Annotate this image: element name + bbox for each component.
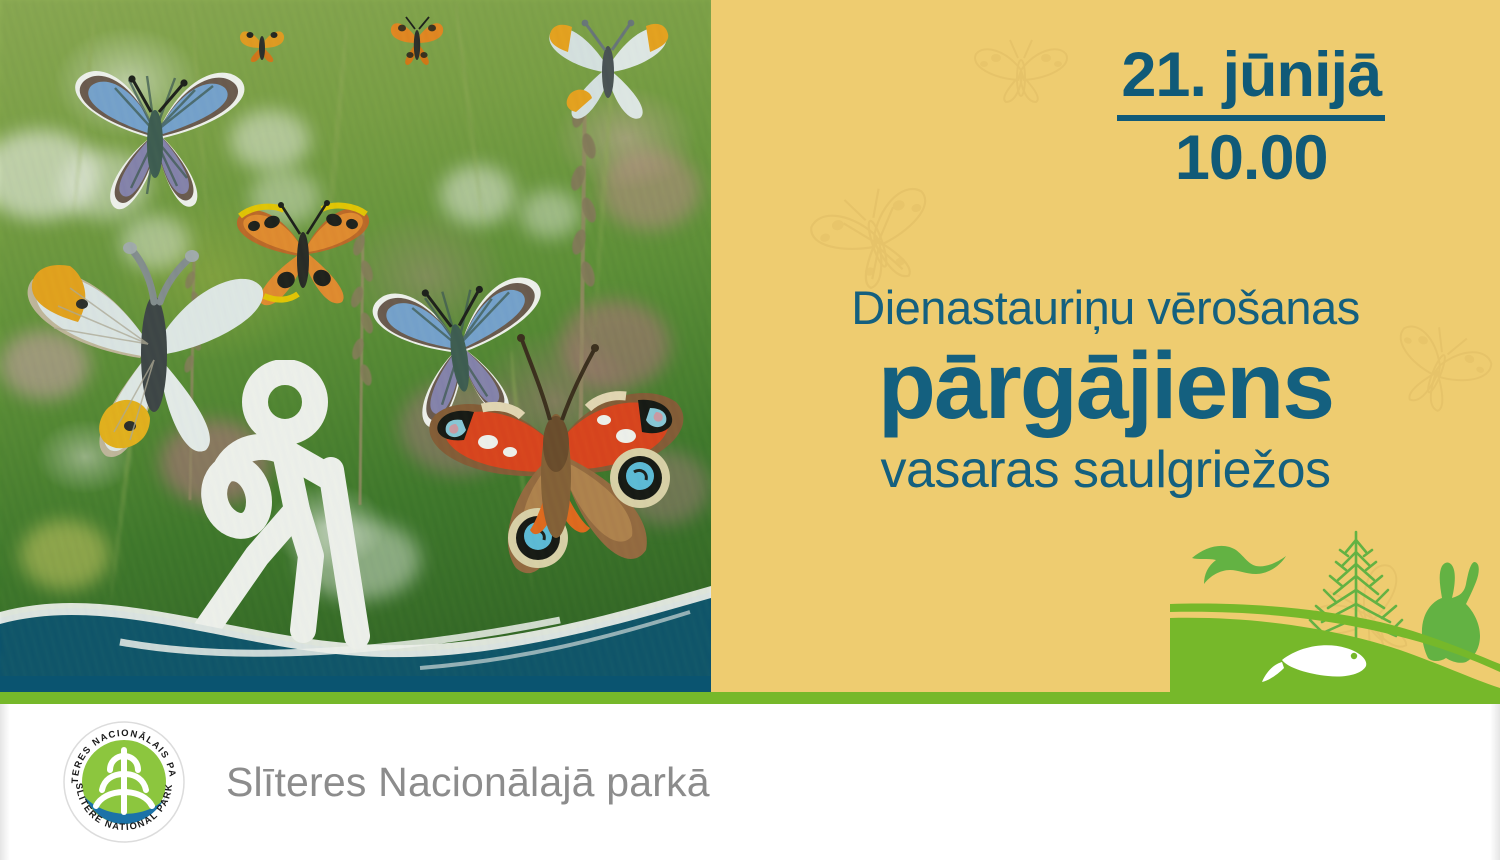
small-tortoiseshell-butterfly xyxy=(388,15,446,67)
grass-blade xyxy=(453,1,492,280)
headline-line-big: pārgājiens xyxy=(711,335,1500,438)
common-blue-butterfly xyxy=(55,42,255,222)
location-label: Slīteres Nacionālajā parkā xyxy=(226,759,710,806)
poster-root: 21. jūnijā 10.00 Dienastauriņu vērošanas… xyxy=(0,0,1500,860)
event-date-block: 21. jūnijā 10.00 xyxy=(1117,44,1385,190)
orange-tip-butterfly xyxy=(542,14,672,124)
slitere-national-park-logo[interactable]: SLĪTERES NACIONĀLAIS PARKS SLITERE NATIO… xyxy=(62,720,186,844)
footer-right-shadow xyxy=(1490,704,1500,860)
flower-blur xyxy=(600,150,700,230)
butterfly-watermark xyxy=(806,182,946,297)
eagle-icon xyxy=(1192,546,1286,584)
footer: SLĪTERES NACIONĀLAIS PARKS SLITERE NATIO… xyxy=(0,704,1500,860)
info-panel: 21. jūnijā 10.00 Dienastauriņu vērošanas… xyxy=(711,0,1500,692)
peacock-butterfly xyxy=(404,316,704,606)
event-time: 10.00 xyxy=(1117,121,1385,190)
butterflies-meadow-photo xyxy=(0,0,711,692)
small-tortoiseshell-butterfly xyxy=(238,24,286,64)
teal-divider-band xyxy=(0,676,711,692)
headline-line-small: Dienastauriņu vērošanas xyxy=(711,284,1500,331)
nature-silhouettes-group xyxy=(1170,512,1500,692)
green-divider-band xyxy=(0,692,1500,704)
butterfly-watermark xyxy=(966,28,1076,108)
event-date: 21. jūnijā xyxy=(1117,44,1385,121)
footer-left-shadow xyxy=(0,704,10,860)
blue-wave-decoration xyxy=(0,572,711,692)
headline-block: Dienastauriņu vērošanas pārgājiens vasar… xyxy=(711,284,1500,496)
headline-line-sub: vasaras saulgriežos xyxy=(711,444,1500,496)
